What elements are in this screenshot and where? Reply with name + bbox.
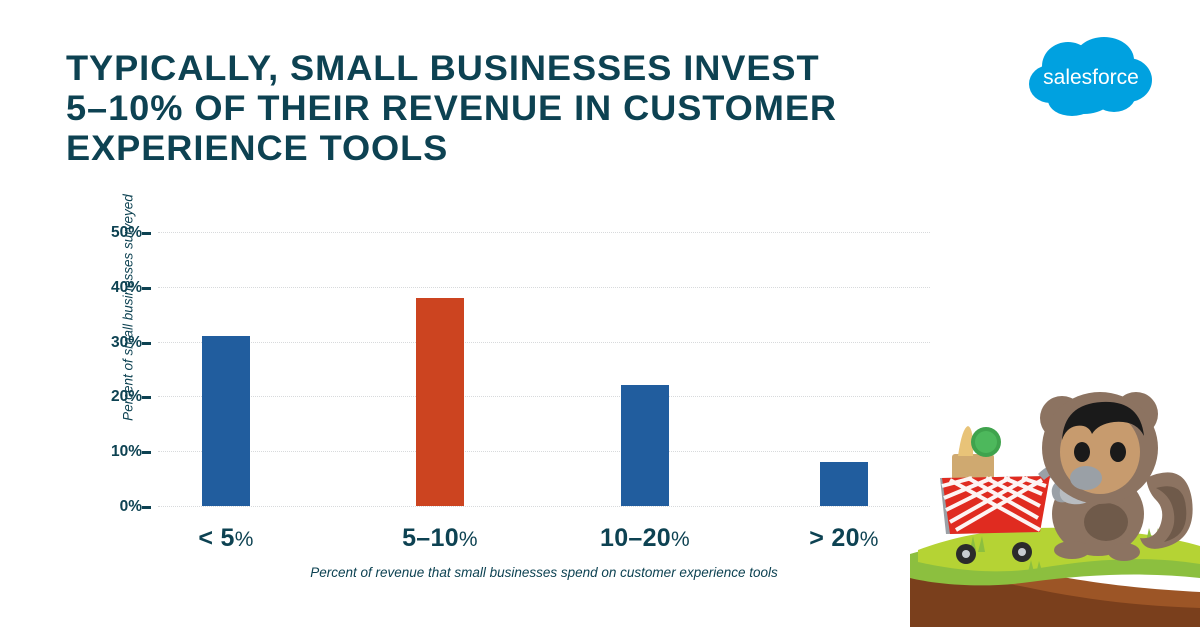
bar-gt-20[interactable] [820,462,868,506]
tick-0 [142,506,151,509]
plot-area: < 5% 5–10% 10–20% > 20% [158,232,930,506]
bar-5-10[interactable] [416,298,464,506]
y-tick-label: 20% [82,389,142,405]
x-tick-main: < 5 [198,524,234,552]
y-tick-label: 10% [82,444,142,460]
infographic-canvas: TYPICALLY, SMALL BUSINESSES INVEST 5–10%… [0,0,1200,627]
gridline-20 [158,396,930,397]
gridline-40 [158,287,930,288]
tick-40 [142,287,151,290]
y-tick-label: 30% [82,335,142,351]
x-tick-suffix: % [671,528,690,551]
x-tick-label-5-10: 5–10% [340,524,540,553]
x-tick-main: > 20 [809,524,860,552]
x-axis-label: Percent of revenue that small businesses… [158,565,930,580]
squirrel-foot-right [1108,543,1140,561]
x-tick-suffix: % [860,528,879,551]
squirrel-belly [1084,503,1128,541]
x-tick-main: 5–10 [402,524,459,552]
astro-eye-left [1074,442,1090,462]
bar-10-20[interactable] [621,385,669,506]
astro-scene-icon [910,382,1200,627]
baguette [958,426,973,456]
tick-50 [142,232,151,235]
y-tick-label: 50% [82,225,142,241]
gridline-10 [158,451,930,452]
gridline-30 [158,342,930,343]
astro-eye-right [1110,442,1126,462]
astro-squirrel-illustration [910,382,1200,627]
y-tick-label: 0% [82,499,142,515]
tick-30 [142,342,151,345]
x-tick-suffix: % [459,528,478,551]
x-tick-label-10-20: 10–20% [545,524,745,553]
tick-20 [142,396,151,399]
gridline-0 [158,506,930,507]
astro-muzzle [1070,466,1102,490]
gridline-50 [158,232,930,233]
y-tick-label: 40% [82,280,142,296]
bar-lt-5[interactable] [202,336,250,506]
x-tick-suffix: % [235,528,254,551]
y-axis-tick-labels: 50% 40% 30% 20% 10% 0% [82,232,142,506]
squirrel-foot-left [1054,541,1090,559]
x-tick-main: 10–20 [600,524,671,552]
x-tick-label-lt-5: < 5% [126,524,326,553]
tick-10 [142,451,151,454]
